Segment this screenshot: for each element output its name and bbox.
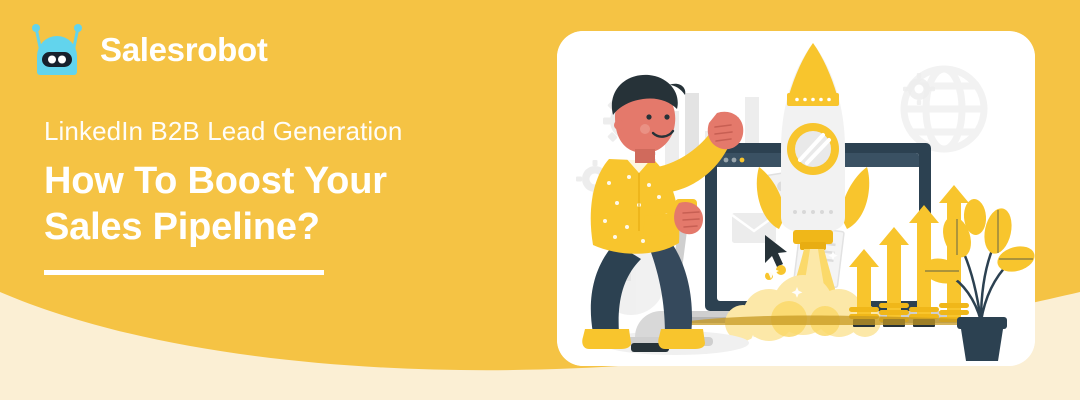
title-divider — [44, 270, 324, 275]
page-title: How To Boost Your Sales Pipeline? — [44, 158, 514, 251]
kicker-text: LinkedIn B2B Lead Generation — [44, 116, 402, 147]
promo-banner: Salesrobot LinkedIn B2B Lead Generation … — [0, 0, 1080, 400]
page-title-line-1: How To Boost Your — [44, 158, 514, 204]
brand-lockup[interactable]: Salesrobot — [28, 22, 268, 76]
startup-growth-illustration — [557, 31, 1035, 366]
browser-dots — [724, 158, 745, 163]
page-title-line-2: Sales Pipeline? — [44, 204, 514, 250]
robot-head-icon — [28, 22, 86, 76]
brand-name: Salesrobot — [100, 33, 268, 66]
illustration-card — [557, 31, 1035, 366]
